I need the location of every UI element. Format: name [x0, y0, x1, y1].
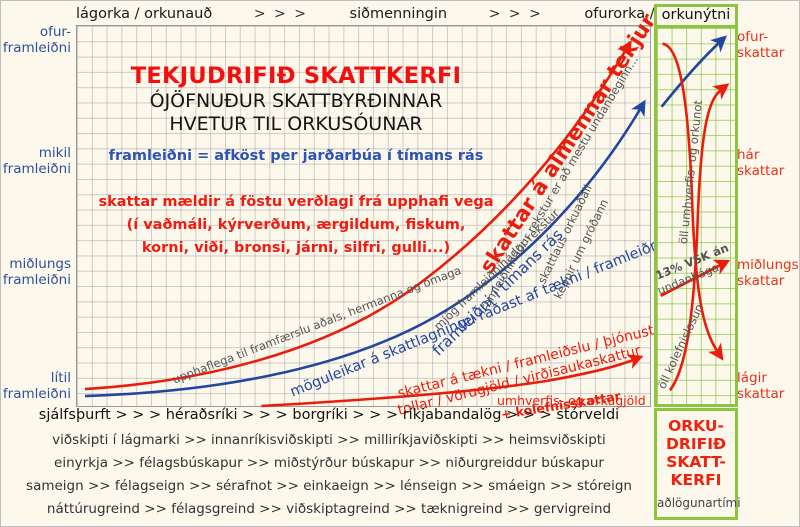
- panel-footer-line4: KERFI: [657, 471, 735, 489]
- bottom-row-trade: viðskipti í lágmarki >> innanríkisviðski…: [9, 432, 649, 448]
- left-axis-tick-ofur: ofur- framleiðni: [3, 25, 71, 56]
- subtitle-1: ÓJÖFNUÐUR SKATTBYRÐINNAR: [96, 90, 496, 112]
- subtitle-2: HVETUR TIL ORKUSÓUNAR: [96, 113, 496, 135]
- measurement-note: skattar mældir á föstu verðlagi frá upph…: [96, 191, 496, 260]
- left-axis-tick-litil-line1: lítil: [3, 371, 71, 387]
- top-axis-label-1: lágorka / orkunauð: [76, 6, 212, 22]
- measurement-note-line3: korni, viði, bronsi, járni, silfri, gull…: [96, 237, 496, 260]
- top-axis-sep-1: > > >: [254, 6, 308, 22]
- top-axis-label-2: siðmenningin: [350, 6, 448, 22]
- right-axis-tick-midlungs-line1: miðlungs: [737, 258, 799, 274]
- top-axis-sep-2: > > >: [489, 6, 543, 22]
- left-axis-tick-litil-line2: framleiðni: [3, 387, 71, 403]
- right-axis-tick-midlungs: miðlungs skattar: [737, 258, 799, 289]
- panel-curve-efficiency: [662, 42, 721, 107]
- bottom-row-economy: einyrkja >> félagsbúskapur >> miðstýrður…: [9, 455, 649, 471]
- left-axis-tick-ofur-line1: ofur-: [3, 25, 71, 41]
- bottom-row-intelligence: náttúrugreind >> félagsgreind >> viðskip…: [9, 501, 649, 517]
- left-axis-tick-midlungs-line1: miðlungs: [3, 257, 71, 273]
- right-axis-tick-midlungs-line2: skattar: [737, 274, 799, 290]
- measurement-note-line1: skattar mældir á föstu verðlagi frá upph…: [96, 191, 496, 214]
- diagram-canvas: lágorka / orkunauð > > > siðmenningin > …: [0, 0, 800, 527]
- measurement-note-line2: (í vaðmáli, kýrverðum, ærgildum, fiskum,: [96, 214, 496, 237]
- left-axis-tick-mikil-line1: mikil: [3, 146, 71, 162]
- left-axis-tick-midlungs-line2: framleiðni: [3, 273, 71, 289]
- right-axis-tick-lagir-line2: skattar: [737, 387, 784, 403]
- top-axis: lágorka / orkunauð > > > siðmenningin > …: [76, 4, 726, 24]
- right-axis-tick-har: hár skattar: [737, 148, 784, 179]
- panel-footer-line3: SKATT-: [657, 453, 735, 471]
- right-axis-tick-ofur-line2: skattar: [737, 46, 784, 62]
- energy-efficiency-panel: [654, 25, 738, 407]
- right-axis-tick-ofur-line1: ofur-: [737, 30, 784, 46]
- right-axis-tick-har-line1: hár: [737, 148, 784, 164]
- page-title: TEKJUDRIFIÐ SKATTKERFI: [96, 63, 496, 89]
- right-axis: ofur- skattar hár skattar miðlungs skatt…: [737, 23, 800, 408]
- bottom-row-ownership: sameign >> félagseign >> sérafnot >> ein…: [9, 478, 649, 494]
- left-axis-tick-mikil: mikil framleiðni: [3, 146, 71, 177]
- panel-footer-sub: aðlögunartími: [657, 496, 735, 510]
- left-axis: ofur- framleiðni mikil framleiðni miðlun…: [1, 23, 75, 408]
- panel-footer-line2: DRIFIÐ: [657, 435, 735, 453]
- bottom-row-states: sjálfsþurft > > > héraðsríki > > > borgr…: [9, 407, 649, 423]
- right-axis-tick-lagir: lágir skattar: [737, 371, 784, 402]
- right-axis-tick-har-line2: skattar: [737, 164, 784, 180]
- left-axis-tick-mikil-line2: framleiðni: [3, 162, 71, 178]
- panel-curves-svg: [657, 28, 735, 404]
- right-axis-tick-ofur: ofur- skattar: [737, 30, 784, 61]
- left-axis-tick-litil: lítil framleiðni: [3, 371, 71, 402]
- definition-note: framleiðni = afköst per jarðarbúa í tíma…: [96, 148, 496, 164]
- left-axis-tick-midlungs: miðlungs framleiðni: [3, 257, 71, 288]
- panel-footer-line1: ORKU-: [657, 417, 735, 435]
- left-axis-tick-ofur-line2: framleiðni: [3, 41, 71, 57]
- right-axis-tick-lagir-line1: lágir: [737, 371, 784, 387]
- panel-title: orkunýtni: [654, 4, 738, 25]
- panel-footer: ORKU- DRIFIÐ SKATT- KERFI aðlögunartími: [654, 408, 738, 520]
